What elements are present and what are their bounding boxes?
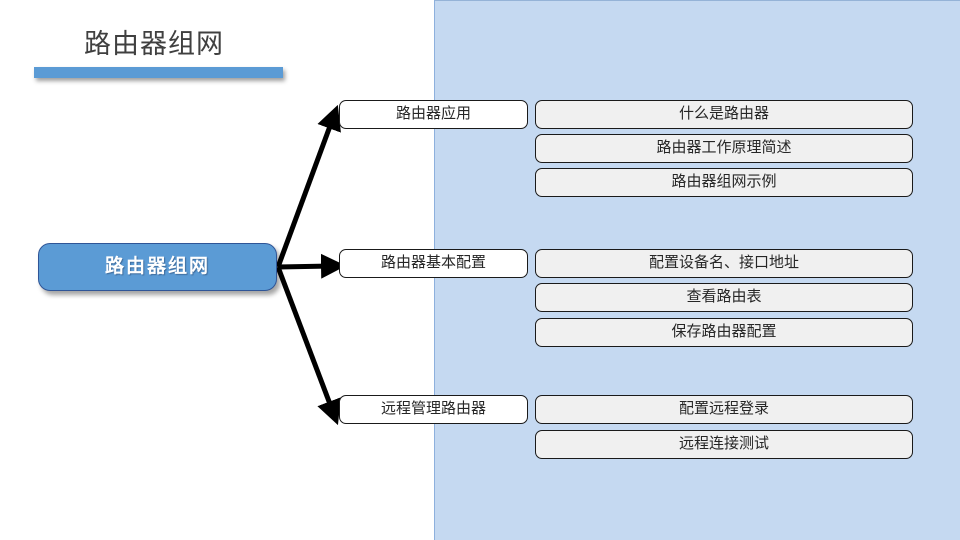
leaf-node-2-1[interactable]: 远程连接测试 xyxy=(535,430,913,459)
page-title: 路由器组网 xyxy=(34,22,454,66)
leaf-node-1-1[interactable]: 查看路由表 xyxy=(535,283,913,312)
slide-canvas: 路由器组网 路由器组网 路由器应用 什么是路由器 路由器工作原理简述 路由器组网… xyxy=(0,0,960,540)
leaf-node-0-1[interactable]: 路由器工作原理简述 xyxy=(535,134,913,163)
root-node[interactable]: 路由器组网 xyxy=(38,243,277,291)
connector-line-0 xyxy=(278,118,333,267)
leaf-node-2-0[interactable]: 配置远程登录 xyxy=(535,395,913,424)
branch-node-2[interactable]: 远程管理路由器 xyxy=(339,395,528,424)
connector-line-1 xyxy=(278,266,332,267)
leaf-node-0-0[interactable]: 什么是路由器 xyxy=(535,100,913,129)
branch-node-1[interactable]: 路由器基本配置 xyxy=(339,249,528,278)
branch-node-0[interactable]: 路由器应用 xyxy=(339,100,528,129)
leaf-node-1-2[interactable]: 保存路由器配置 xyxy=(535,318,913,347)
connector-line-2 xyxy=(278,267,333,412)
leaf-node-1-0[interactable]: 配置设备名、接口地址 xyxy=(535,249,913,278)
title-underline-bar xyxy=(34,67,283,78)
leaf-node-0-2[interactable]: 路由器组网示例 xyxy=(535,168,913,197)
